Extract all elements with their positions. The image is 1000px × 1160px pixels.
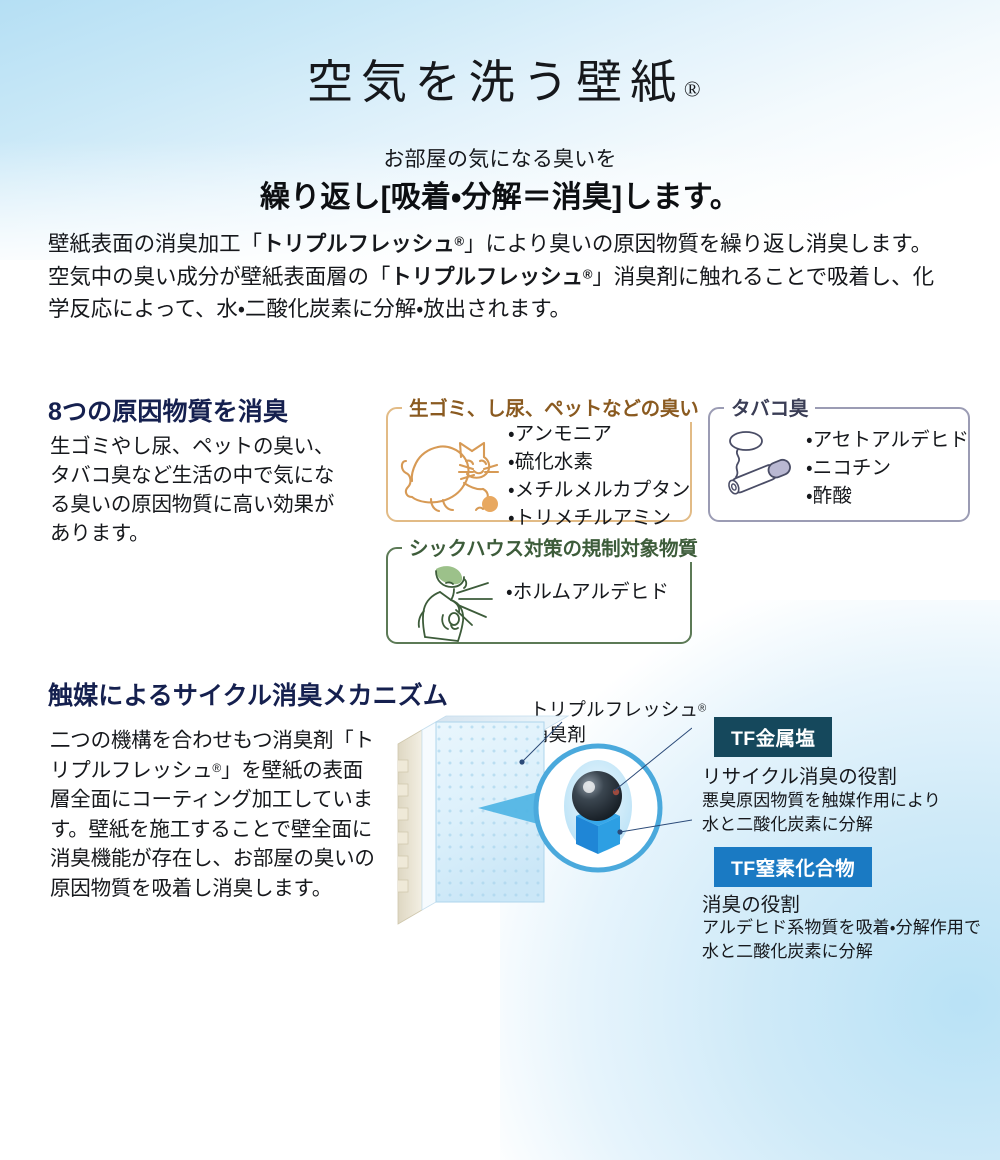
list-item: ・アンモニア [508,421,691,449]
odor-card-kitchen: 生ゴミ、し尿、ペットなどの臭い ・アンモニア ・硫化水素 ・メチルメルカプタン … [386,407,692,522]
lead-brand-2-text: トリプルフレッシュ [390,265,583,289]
registered-mark-icon: ® [454,234,463,249]
list-item: ・酢酸 [806,483,969,511]
list-item: ・メチルメルカプタン [508,477,691,505]
lead-brand-1: トリプルフレッシュ® [262,232,464,256]
lead-paragraph: 壁紙表面の消臭加工「トリプルフレッシュ®」により臭いの原因物質を繰り返し消臭しま… [48,228,952,326]
registered-mark-icon: ® [212,760,221,774]
subtitle-line-1: お部屋の気になる臭いを [0,143,1000,173]
desc-nitro-line-2: 水と二酸化炭素に分解 [702,942,873,961]
desc-metal-line-1: 悪臭原因物質を触媒作用により [702,791,941,810]
wallpaper-cross-section-diagram [392,688,692,948]
odor-card-sickhouse-items: ・ホルムアルデヒド [506,579,669,607]
desc-metal-line-2: 水と二酸化炭素に分解 [702,815,873,834]
odor-card-kitchen-items: ・アンモニア ・硫化水素 ・メチルメルカプタン ・トリメチルアミン [508,421,691,533]
magnifier-circle [536,746,660,870]
wallpaper-surface-layer [422,722,436,910]
sneezing-person-icon [410,559,502,645]
registered-mark-icon: ® [698,702,706,714]
cat-icon [398,431,506,517]
badge-tf-nitrogen-compound: TF窒素化合物 [714,847,872,887]
odor-card-sickhouse: シックハウス対策の規制対象物質 ・ホルムアルデヒド [386,547,692,644]
page-title: 空気を洗う壁紙® [0,46,1000,112]
badge-tf-metal-salt: TF金属塩 [714,717,832,757]
odor-card-tobacco-items: ・アセトアルデヒド ・ニコチン ・酢酸 [806,427,969,511]
lead-brand-1-text: トリプルフレッシュ [262,232,455,256]
lead-brand-2: トリプルフレッシュ® [390,265,592,289]
role-tf-nitrogen-compound: 消臭の役割 [702,888,800,917]
odor-card-tobacco: タバコ臭 ・アセトアルデヒド ・ニコチン ・酢酸 [708,407,970,522]
cigarette-icon [716,429,802,503]
registered-mark-icon: ® [684,76,701,101]
list-item: ・ニコチン [806,455,969,483]
tf-metal-salt-sphere [572,771,622,821]
registered-mark-icon: ® [583,266,592,281]
subtitle-line-2: 繰り返し[吸着・分解＝消臭]します。 [0,172,1000,216]
list-item: ・ホルムアルデヒド [506,579,669,607]
wallpaper-backing-layer [398,730,422,924]
lead-part-1: 壁紙表面の消臭加工「 [48,232,262,256]
list-item: ・硫化水素 [508,449,691,477]
list-item: ・トリメチルアミン [508,505,691,533]
desc-nitro-line-1: アルデヒド系物質を吸着・分解作用で [702,918,981,937]
section-heading-mechanism: 触媒によるサイクル消臭メカニズム [48,676,448,712]
desc-tf-nitrogen-compound: アルデヒド系物質を吸着・分解作用で水と二酸化炭素に分解 [702,916,981,964]
mechanism-body-part-1: 二つの機構を合わせもつ消臭剤「 [50,729,354,752]
role-tf-metal-salt: リサイクル消臭の役割 [702,760,897,789]
section-body-odor: 生ゴミやし尿、ペットの臭い、タバコ臭など生活の中で気になる臭いの原因物質に高い効… [50,432,350,548]
section-heading-odor: 8つの原因物質を消臭 [48,392,288,428]
odor-card-kitchen-caption: 生ゴミ、し尿、ペットなどの臭い [402,396,706,422]
section-body-mechanism: 二つの機構を合わせもつ消臭剤「トリプルフレッシュ®」を壁紙の表面層全面にコーティ… [50,726,380,903]
list-item: ・アセトアルデヒド [806,427,969,455]
desc-tf-metal-salt: 悪臭原因物質を触媒作用により水と二酸化炭素に分解 [702,789,941,837]
odor-card-tobacco-caption: タバコ臭 [724,396,815,422]
page-title-text: 空気を洗う壁紙 [307,57,684,108]
